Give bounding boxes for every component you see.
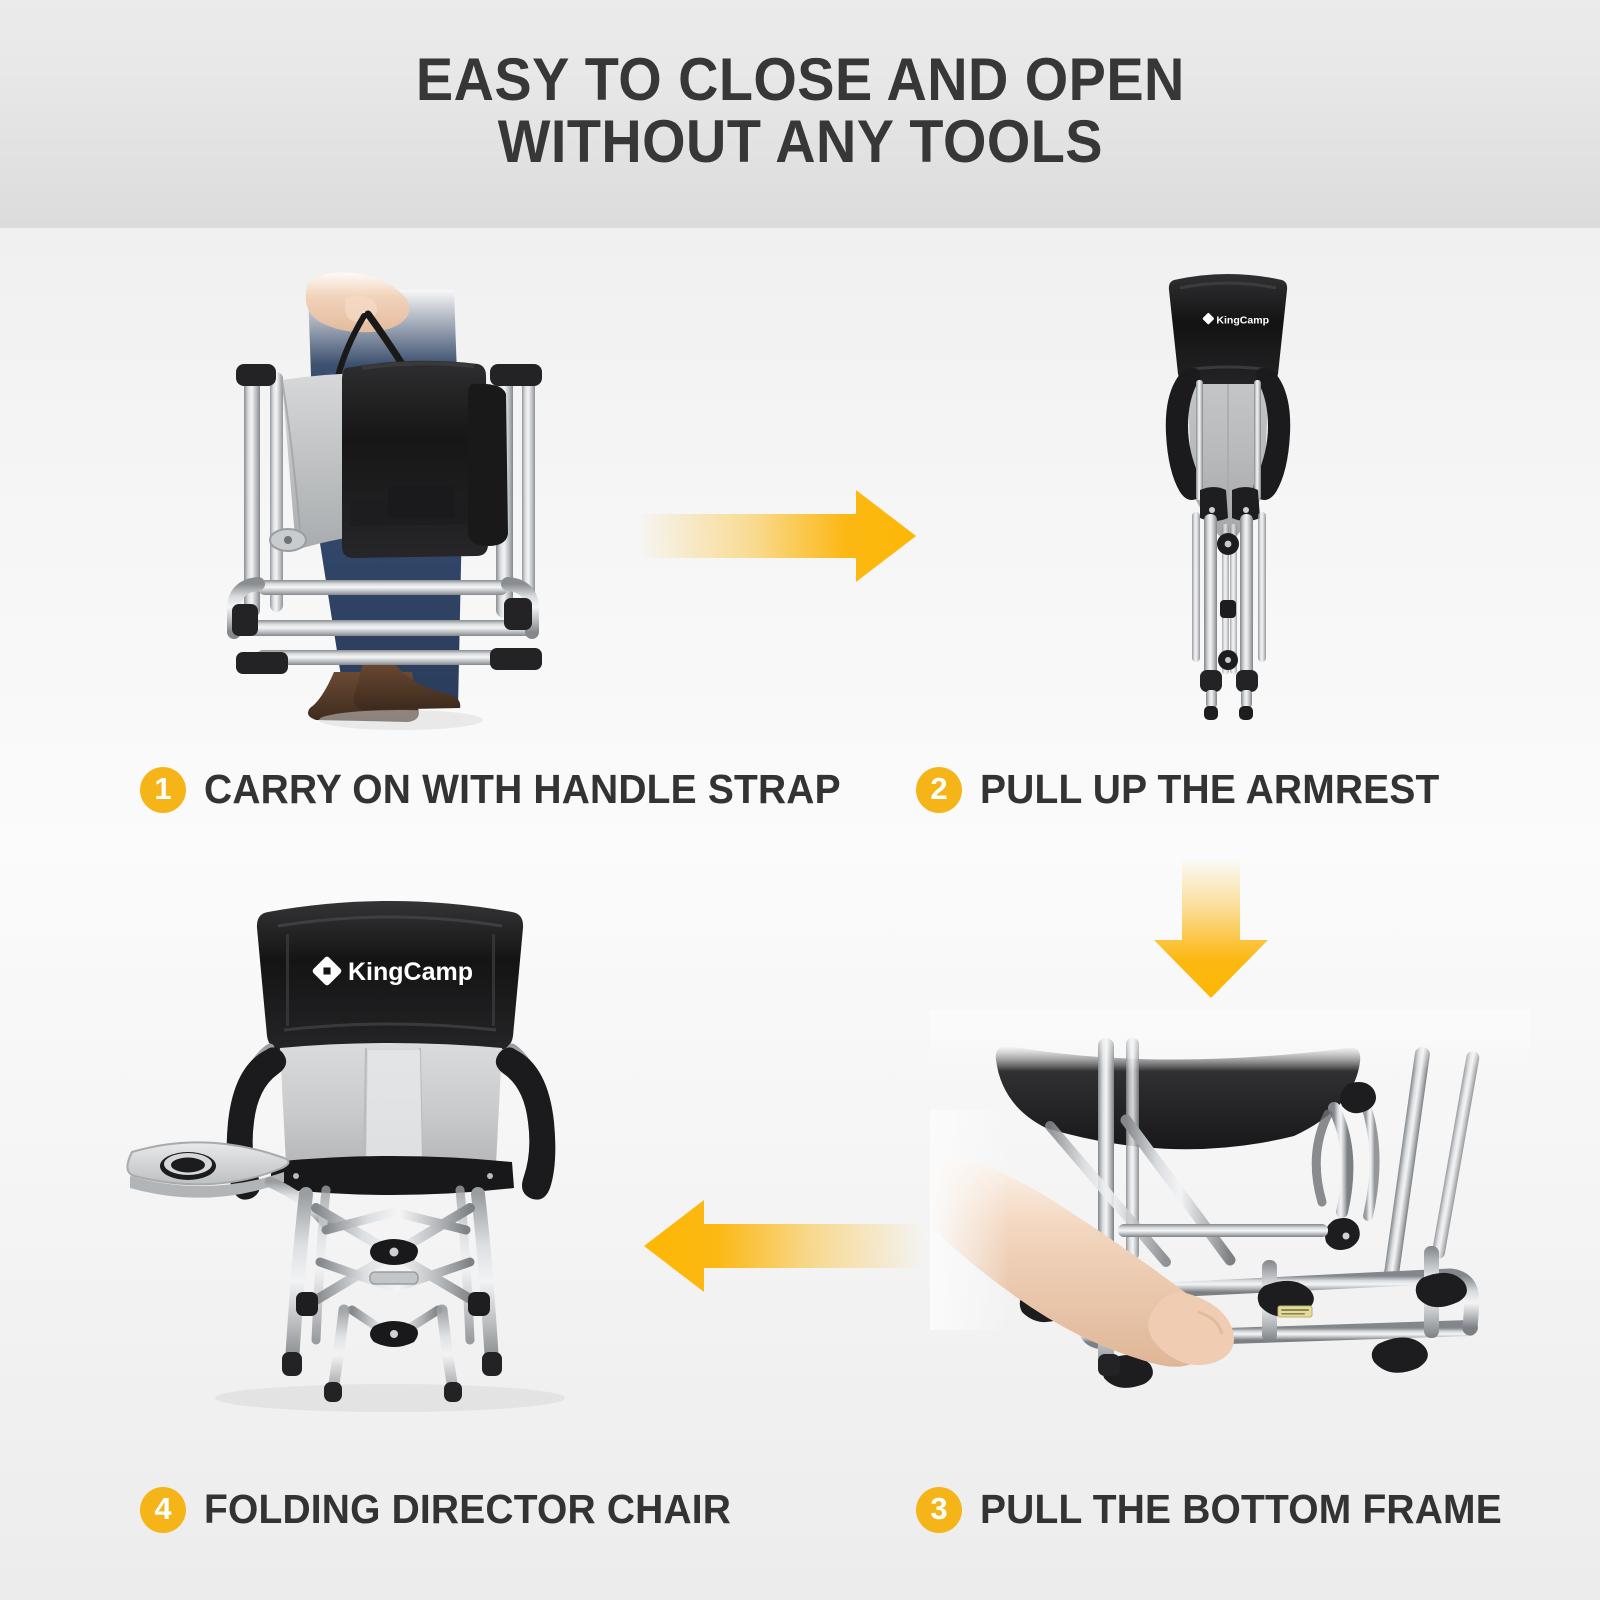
arrow-step1-to-step2 [630, 476, 920, 596]
step-2-badge: 2 [916, 767, 962, 813]
step-2-caption: 2 PULL UP THE ARMREST [916, 766, 1464, 813]
page-title: EASY TO CLOSE AND OPEN WITHOUT ANY TOOLS [416, 49, 1185, 173]
step-3-badge: 3 [916, 1487, 962, 1533]
step-1-image [196, 268, 596, 738]
step-2-label: PULL UP THE ARMREST [980, 766, 1440, 813]
svg-text:KingCamp: KingCamp [1216, 315, 1269, 327]
infographic-page: EASY TO CLOSE AND OPEN WITHOUT ANY TOOLS [0, 0, 1600, 1600]
step-2-image: KingCamp [1108, 262, 1348, 732]
step-1-badge: 1 [140, 767, 186, 813]
arrow-step3-to-step4 [638, 1186, 930, 1306]
folded-chair-carry-illustration [196, 268, 596, 738]
pull-bottom-frame-illustration [930, 1010, 1530, 1410]
svg-text:KingCamp: KingCamp [348, 958, 473, 986]
open-director-chair-illustration: KingCamp [120, 890, 640, 1430]
arrow-step2-to-step3 [1136, 856, 1286, 1002]
step-3-caption: 3 PULL THE BOTTOM FRAME [916, 1486, 1529, 1533]
step-3-image [930, 1010, 1530, 1410]
step-3-label: PULL THE BOTTOM FRAME [980, 1486, 1502, 1533]
step-1-label: CARRY ON WITH HANDLE STRAP [204, 766, 841, 813]
step-4-image: KingCamp [120, 890, 640, 1430]
step-4-badge: 4 [140, 1487, 186, 1533]
step-1-caption: 1 CARRY ON WITH HANDLE STRAP [140, 766, 874, 813]
folded-chair-upright-illustration: KingCamp [1108, 262, 1348, 732]
header-band: EASY TO CLOSE AND OPEN WITHOUT ANY TOOLS [0, 0, 1600, 228]
step-4-caption: 4 FOLDING DIRECTOR CHAIR [140, 1486, 759, 1533]
step-4-label: FOLDING DIRECTOR CHAIR [204, 1486, 731, 1533]
